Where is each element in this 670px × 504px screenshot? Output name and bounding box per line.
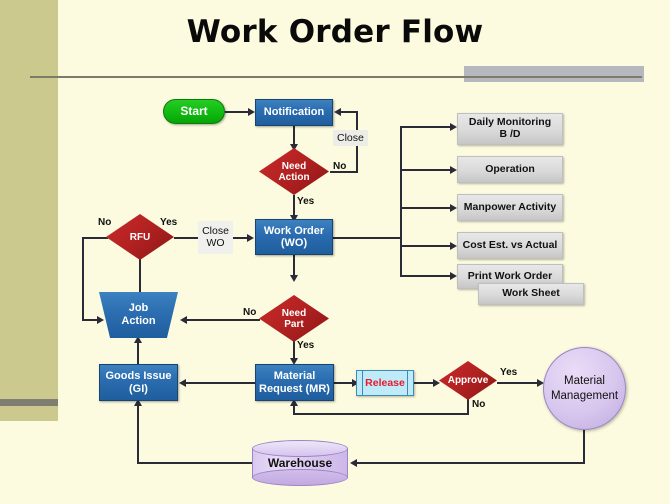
edge-start-to-notification (225, 111, 248, 113)
edge-mm-to-warehouse-h (356, 462, 585, 464)
work-sheet-label: Work Sheet (502, 288, 560, 300)
edge-release-to-approve (413, 382, 435, 384)
edge-right-trunk-vertical (400, 126, 402, 277)
edge-label-no-need-action: No (333, 161, 346, 172)
output-box-daily-monitoring[interactable]: Daily Monitoring B /D (457, 113, 563, 145)
edge-label-no-approve: No (472, 399, 485, 410)
edge-need-part-no (186, 319, 260, 321)
edge-warehouse-to-gi-v (137, 405, 139, 464)
work-order-line1: Work Order (264, 225, 324, 237)
node-work-order[interactable]: Work Order (WO) (255, 219, 333, 255)
goods-issue-line1: Goods Issue (105, 370, 171, 382)
need-part-line2: Part (282, 319, 306, 330)
manpower-activity-label: Manpower Activity (464, 202, 556, 214)
node-warehouse[interactable]: Warehouse (252, 440, 348, 486)
output-box-operation[interactable]: Operation (457, 156, 563, 183)
edge-mm-to-warehouse-v (583, 428, 585, 464)
material-management-line1: Material (564, 375, 605, 387)
node-start[interactable]: Start (163, 99, 225, 124)
output-box-cost-est-vs-actual[interactable]: Cost Est. vs Actual (457, 232, 563, 259)
material-request-line1: Material (259, 370, 330, 382)
arrowhead-need-part-no (180, 316, 187, 324)
arrowhead-mm-to-warehouse (350, 459, 357, 467)
job-action-line1: Job (129, 302, 149, 314)
node-close-wo[interactable]: Close WO (198, 221, 233, 254)
edge-gi-to-job-action (137, 341, 139, 364)
edge-rfu-no-to-job-action (82, 319, 98, 321)
need-action-line1: Need (282, 161, 306, 172)
edge-need-action-yes (293, 195, 295, 217)
arrowhead-closewo-to-wo (247, 234, 254, 242)
node-need-action[interactable]: Need Action (259, 148, 329, 195)
output-box-manpower-activity[interactable]: Manpower Activity (457, 194, 563, 221)
edge-label-close-top: Close (333, 130, 368, 146)
edge-mr-to-release (334, 382, 354, 384)
edge-wo-to-trunk (333, 237, 402, 239)
output-box-work-sheet[interactable]: Work Sheet (478, 283, 584, 305)
edge-approve-yes (497, 382, 539, 384)
close-wo-line2: WO (202, 238, 229, 250)
cost-est-label: Cost Est. vs Actual (463, 240, 558, 252)
edge-rfu-no-h (82, 237, 108, 239)
node-release-label: Release (357, 371, 413, 395)
page-title: Work Order Flow (0, 14, 670, 50)
edge-job-action-to-rfu (139, 255, 141, 293)
slide-canvas: Work Order Flow Close No Yes Yes No N (0, 0, 670, 504)
material-request-line2: Request (MR) (259, 383, 330, 395)
need-part-line1: Need (282, 308, 306, 319)
operation-label: Operation (485, 164, 535, 176)
edge-wo-to-need-part (293, 255, 295, 277)
edge-warehouse-to-gi-h (137, 462, 252, 464)
edge-approve-no-h (293, 413, 469, 415)
left-accent-strip (0, 0, 58, 421)
left-accent-bar (0, 399, 58, 406)
arrowhead-mr-to-gi (179, 379, 186, 387)
title-gray-block (464, 66, 644, 82)
node-need-part-label: Need Part (259, 295, 329, 342)
material-management-line2: Management (551, 389, 618, 403)
arrowhead-branch-cost (450, 242, 457, 250)
node-job-action[interactable]: Job Action (99, 292, 178, 338)
node-start-label: Start (180, 105, 207, 118)
print-work-order-label: Print Work Order (468, 271, 552, 283)
node-notification[interactable]: Notification (255, 99, 333, 126)
arrowhead-branch-daily-monitoring (450, 123, 457, 131)
node-material-request[interactable]: Material Request (MR) (255, 364, 334, 401)
node-approve-label: Approve (439, 361, 497, 400)
edge-branch-operation (400, 169, 451, 171)
edge-label-no-need-part: No (243, 307, 256, 318)
node-material-management[interactable]: Material Management (543, 347, 626, 430)
arrowhead-need-action-no-to-notification (334, 108, 341, 116)
node-rfu[interactable]: RFU (106, 214, 174, 260)
edge-closewo-to-wo (232, 237, 248, 239)
edge-label-yes-approve: Yes (500, 367, 517, 378)
arrowhead-wo-to-need-part (290, 275, 298, 282)
edge-rfu-yes-to-closewo (174, 237, 198, 239)
daily-monitoring-line2: B /D (469, 129, 551, 141)
node-need-action-label: Need Action (259, 148, 329, 195)
node-rfu-label: RFU (106, 214, 174, 260)
arrowhead-start-to-notification (248, 108, 255, 116)
edge-rfu-no-v (82, 237, 84, 321)
edge-mr-to-gi (185, 382, 256, 384)
node-goods-issue[interactable]: Goods Issue (GI) (99, 364, 178, 401)
need-action-line2: Action (278, 172, 309, 183)
edge-branch-manpower (400, 207, 451, 209)
job-action-line2: Action (121, 315, 155, 328)
close-wo-line1: Close (202, 226, 229, 238)
node-job-action-label: Job Action (99, 292, 178, 338)
edge-label-yes-need-action: Yes (297, 196, 314, 207)
node-notification-label: Notification (264, 106, 325, 118)
edge-branch-print-wo (400, 275, 451, 277)
edge-branch-daily-monitoring (400, 126, 451, 128)
edge-notification-to-need-action (293, 126, 295, 144)
node-warehouse-label: Warehouse (252, 440, 348, 486)
title-divider-rule (30, 76, 642, 78)
node-approve[interactable]: Approve (439, 361, 497, 400)
edge-need-action-no-return (341, 111, 358, 113)
arrowhead-branch-print-wo (450, 272, 457, 280)
work-order-line2: (WO) (264, 237, 324, 249)
arrowhead-branch-manpower (450, 204, 457, 212)
node-need-part[interactable]: Need Part (259, 295, 329, 342)
arrowhead-branch-operation (450, 166, 457, 174)
edge-branch-cost (400, 245, 451, 247)
goods-issue-line2: (GI) (105, 383, 171, 395)
node-release[interactable]: Release (356, 370, 414, 396)
